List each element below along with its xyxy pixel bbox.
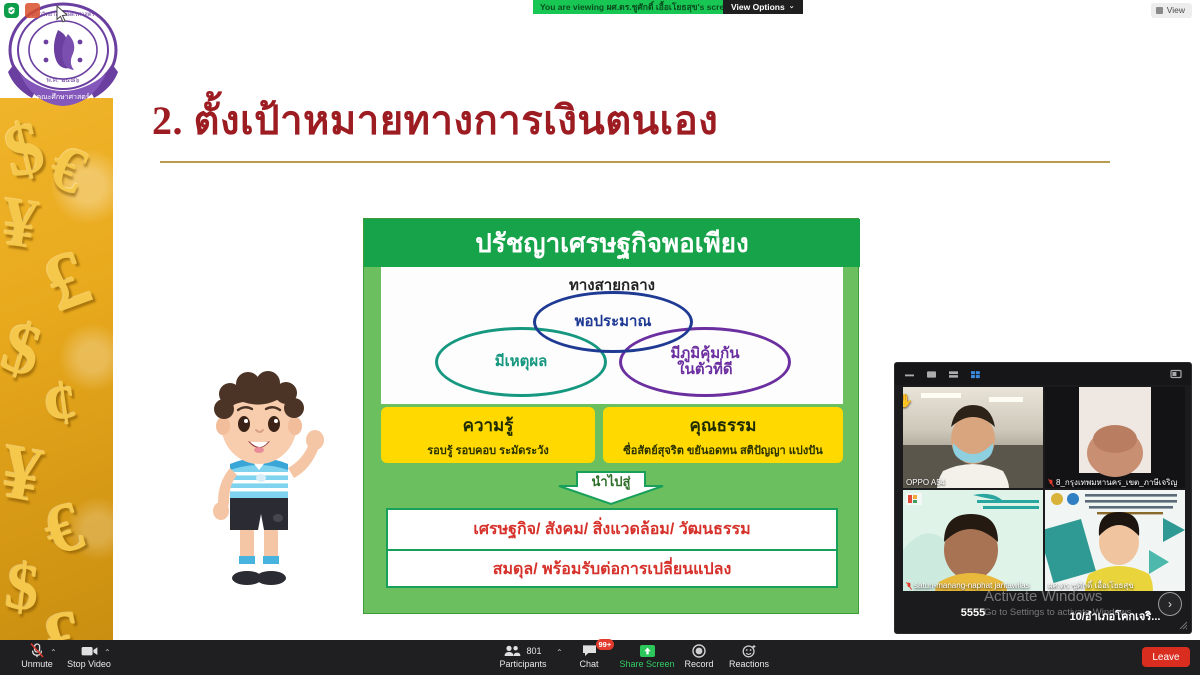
video-feed bbox=[903, 490, 1043, 591]
record-indicator-icon bbox=[25, 3, 40, 18]
participant-name-label: 5555 bbox=[903, 607, 1043, 619]
currency-symbol-icon: $ bbox=[2, 548, 43, 627]
leads-to-arrow: นำไปสู่ bbox=[364, 469, 858, 507]
unmute-label: Unmute bbox=[21, 659, 53, 669]
chat-icon: 99+ bbox=[582, 643, 597, 658]
split-view-icon[interactable] bbox=[948, 370, 959, 379]
outcome-row: เศรษฐกิจ/ สังคม/ สิ่งแวดล้อม/ วัฒนธรรม bbox=[388, 510, 836, 549]
view-options-button[interactable]: View Options ⌄ bbox=[723, 0, 803, 14]
screen-share-banner: You are viewing ผศ.ดร.ชูศักดิ์ เอื้อเโยธ… bbox=[533, 0, 741, 14]
grid-view-icon[interactable] bbox=[970, 370, 981, 379]
participant-name-label: 8_กรุงเทพมหานคร_เขต_ภาษีเจริญ bbox=[1056, 477, 1177, 488]
view-options-label: View Options bbox=[731, 0, 785, 14]
popout-icon[interactable] bbox=[1170, 369, 1182, 379]
participant-name: ผศ.ดร.ชูศักดิ์ เอื้อเโยธสุข bbox=[1045, 580, 1137, 591]
chevron-down-icon: ⌄ bbox=[789, 0, 795, 14]
diagram-venn-area: ทางสายกลาง พอประมาณ มีเหตุผล มีภูมิคุ้มก… bbox=[381, 267, 843, 404]
currency-symbol-icon: £ bbox=[38, 593, 92, 640]
participant-tile[interactable]: satun-manang-naphat jantawilas bbox=[903, 490, 1043, 591]
microphone-muted-icon bbox=[1048, 479, 1054, 487]
participant-name: satun-manang-naphat jantawilas bbox=[903, 580, 1033, 591]
grid-view-icon bbox=[1156, 7, 1163, 14]
participants-button[interactable]: 801 Participants bbox=[492, 643, 554, 673]
view-layout-button[interactable]: View bbox=[1151, 3, 1192, 18]
cartoon-boy-illustration bbox=[168, 368, 350, 600]
microphone-muted-icon bbox=[906, 582, 912, 590]
single-view-icon[interactable] bbox=[926, 370, 937, 379]
participant-name: OPPO A54 bbox=[903, 477, 948, 488]
knowledge-title: ความรู้ bbox=[463, 412, 514, 439]
currency-symbol-icon: € bbox=[34, 487, 92, 574]
participant-name-label: ผศ.ดร.ชูศักดิ์ เอื้อเโยธสุข bbox=[1048, 580, 1134, 591]
mouse-cursor-icon bbox=[56, 5, 68, 23]
video-feed bbox=[1045, 490, 1185, 591]
slide-title: 2. ตั้งเป้าหมายทางการเงินตนเอง bbox=[152, 88, 718, 152]
arrow-label: นำไปสู่ bbox=[364, 471, 858, 492]
camera-icon bbox=[81, 643, 98, 658]
venn-circle-moderation: พอประมาณ bbox=[533, 291, 693, 353]
conditions-row: ความรู้ รอบรู้ รอบคอบ ระมัดระวัง คุณธรรม… bbox=[381, 407, 843, 463]
participant-tiles: OPPO A54 ✋ 8_กรุงเทพมหานคร_เขต_ภาษีเจริญ bbox=[903, 387, 1185, 595]
meeting-toolbar: Unmute ⌃ Stop Video ⌃ 801 bbox=[0, 640, 1200, 675]
record-icon bbox=[692, 643, 706, 658]
participant-name-label: satun-manang-naphat jantawilas bbox=[914, 580, 1030, 591]
zoom-meeting-window: $ € ¥ £ $ ¢ ¥ € $ £ bbox=[0, 0, 1200, 675]
reactions-icon bbox=[742, 643, 757, 658]
video-feed bbox=[903, 387, 1043, 488]
view-button-label: View bbox=[1167, 3, 1185, 18]
video-feed bbox=[1045, 387, 1185, 488]
participant-tile[interactable]: 5555 5555 bbox=[903, 593, 1043, 634]
gold-money-background: $ € ¥ £ $ ¢ ¥ € $ £ bbox=[0, 98, 113, 640]
morality-detail: ซื่อสัตย์สุจริต ขยันอดทน สติปัญญา แบ่งปั… bbox=[623, 441, 822, 459]
morality-box: คุณธรรม ซื่อสัตย์สุจริต ขยันอดทน สติปัญญ… bbox=[603, 407, 843, 463]
title-divider bbox=[160, 161, 1110, 163]
participant-tile[interactable]: OPPO A54 ✋ bbox=[903, 387, 1043, 488]
video-panel-toolbar bbox=[895, 363, 1191, 385]
outcomes-box: เศรษฐกิจ/ สังคม/ สิ่งแวดล้อม/ วัฒนธรรม ส… bbox=[386, 508, 838, 588]
participant-name-label: OPPO A54 bbox=[906, 477, 945, 488]
outcome-row: สมดุล/ พร้อมรับต่อการเปลี่ยนแปลง bbox=[388, 549, 836, 588]
microphone-muted-icon bbox=[30, 643, 44, 658]
share-screen-label: Share Screen bbox=[619, 659, 674, 669]
participants-icon: 801 bbox=[504, 643, 541, 658]
reactions-button[interactable]: Reactions bbox=[718, 643, 780, 673]
diagram-header: ปรัชญาเศรษฐกิจพอเพียง bbox=[364, 219, 860, 267]
svg-text:พ.ศ. ๒๔๘๖: พ.ศ. ๒๔๘๖ bbox=[47, 76, 80, 84]
record-label: Record bbox=[684, 659, 713, 669]
raise-hand-icon: ✋ bbox=[903, 393, 913, 409]
chat-label: Chat bbox=[579, 659, 598, 669]
knowledge-box: ความรู้ รอบรู้ รอบคอบ ระมัดระวัง bbox=[381, 407, 595, 463]
resize-grip[interactable] bbox=[1179, 621, 1188, 630]
sufficiency-economy-diagram: ปรัชญาเศรษฐกิจพอเพียง ทางสายกลาง พอประมา… bbox=[363, 218, 859, 614]
next-page-button[interactable]: › bbox=[1158, 592, 1182, 616]
chat-button[interactable]: 99+ Chat bbox=[558, 643, 620, 673]
morality-title: คุณธรรม bbox=[690, 412, 757, 439]
leave-button[interactable]: Leave bbox=[1142, 647, 1190, 667]
shield-check-icon bbox=[4, 3, 19, 18]
participants-label: Participants bbox=[499, 659, 546, 669]
participants-count: 801 bbox=[526, 646, 541, 656]
participant-tile[interactable]: ผศ.ดร.ชูศักดิ์ เอื้อเโยธสุข bbox=[1045, 490, 1185, 591]
participant-name: 8_กรุงเทพมหานคร_เขต_ภาษีเจริญ bbox=[1045, 477, 1180, 488]
stop-video-label: Stop Video bbox=[67, 659, 111, 669]
video-thumbnail-panel[interactable]: OPPO A54 ✋ 8_กรุงเทพมหานคร_เขต_ภาษีเจริญ bbox=[894, 362, 1192, 634]
venn-diagram: พอประมาณ มีเหตุผล มีภูมิคุ้มกัน ในตัวที่… bbox=[381, 291, 843, 403]
participant-tile[interactable]: 8_กรุงเทพมหานคร_เขต_ภาษีเจริญ bbox=[1045, 387, 1185, 488]
minimize-icon[interactable] bbox=[904, 370, 915, 379]
knowledge-detail: รอบรู้ รอบคอบ ระมัดระวัง bbox=[427, 441, 549, 459]
mic-options-caret[interactable]: ⌃ bbox=[50, 648, 57, 657]
svg-text:คณะศึกษาศาสตร์: คณะศึกษาศาสตร์ bbox=[36, 92, 89, 101]
reactions-label: Reactions bbox=[729, 659, 769, 669]
share-screen-icon bbox=[639, 643, 656, 658]
video-options-caret[interactable]: ⌃ bbox=[104, 648, 111, 657]
